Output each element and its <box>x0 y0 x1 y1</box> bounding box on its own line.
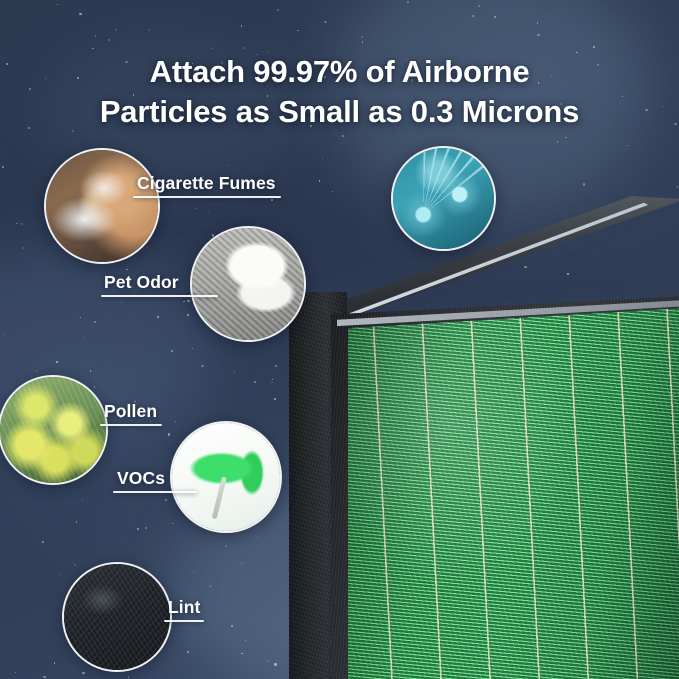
callout-label-pet-odor: Pet Odor <box>104 272 179 293</box>
bacteria-virus-icon <box>391 146 496 251</box>
headline-line-1: Attach 99.97% of Airborne <box>0 52 679 92</box>
callout-rule-lint <box>164 620 204 622</box>
callout-label-pollen: Pollen <box>104 401 157 422</box>
filter-pleated-media <box>348 308 679 679</box>
pollen-flower-icon <box>0 375 108 485</box>
lint-art <box>64 564 170 670</box>
bacteria-virus-art <box>393 148 494 249</box>
lint-fabric-icon <box>62 562 172 672</box>
callout-label-lint: Lint <box>168 597 200 618</box>
hepa-filter-product <box>289 196 679 679</box>
headline-line-2: Particles as Small as 0.3 Microns <box>0 92 679 132</box>
callout-rule-pollen <box>100 424 162 426</box>
paint-roller-art <box>172 423 280 531</box>
pollen-art <box>0 377 106 483</box>
callout-rule-cigarette-fumes <box>133 196 281 198</box>
cat-art <box>192 228 304 340</box>
cigarette-smoke-art <box>46 150 158 262</box>
callout-rule-pet-odor <box>101 295 218 297</box>
page-title: Attach 99.97% of Airborne Particles as S… <box>0 52 679 133</box>
paint-roller-icon <box>170 421 282 533</box>
cigarette-smoke-icon <box>44 148 160 264</box>
callout-label-cigarette-fumes: Cigarette Fumes <box>137 173 276 194</box>
callout-rule-vocs <box>113 491 197 493</box>
cat-icon <box>190 226 306 342</box>
callout-label-vocs: VOCs <box>117 468 165 489</box>
product-marketing-image: Attach 99.97% of Airborne Particles as S… <box>0 0 679 679</box>
